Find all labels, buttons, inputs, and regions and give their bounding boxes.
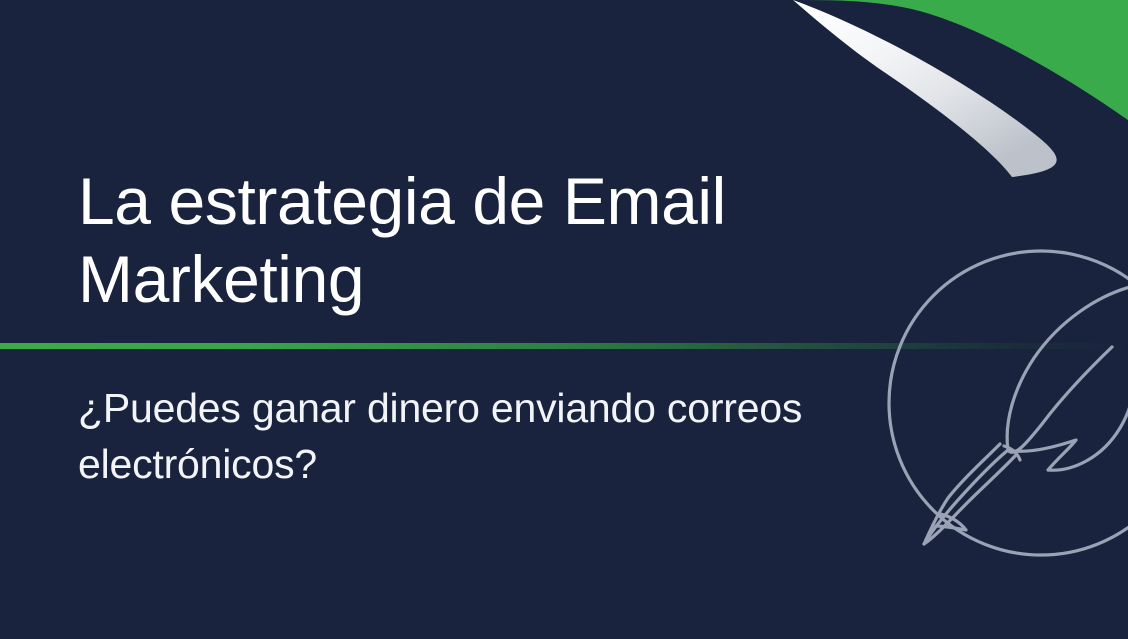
slide-subtitle: ¿Puedes ganar dinero enviando correos el…	[78, 381, 888, 493]
quill-shaft	[924, 450, 1008, 544]
feather-spine	[1008, 347, 1112, 452]
quill-nib	[936, 514, 966, 530]
quill-body	[924, 444, 1015, 544]
slide-title: La estrategia de Email Marketing	[78, 163, 838, 319]
slide-canvas: La estrategia de Email Marketing ¿Puedes…	[0, 0, 1128, 639]
feather-quill-emblem	[880, 242, 1128, 564]
quill-collar	[1004, 446, 1020, 460]
feather-vane-outline	[1007, 287, 1128, 470]
emblem-circle	[889, 251, 1128, 555]
slide-text-block: La estrategia de Email Marketing ¿Puedes…	[78, 0, 898, 639]
